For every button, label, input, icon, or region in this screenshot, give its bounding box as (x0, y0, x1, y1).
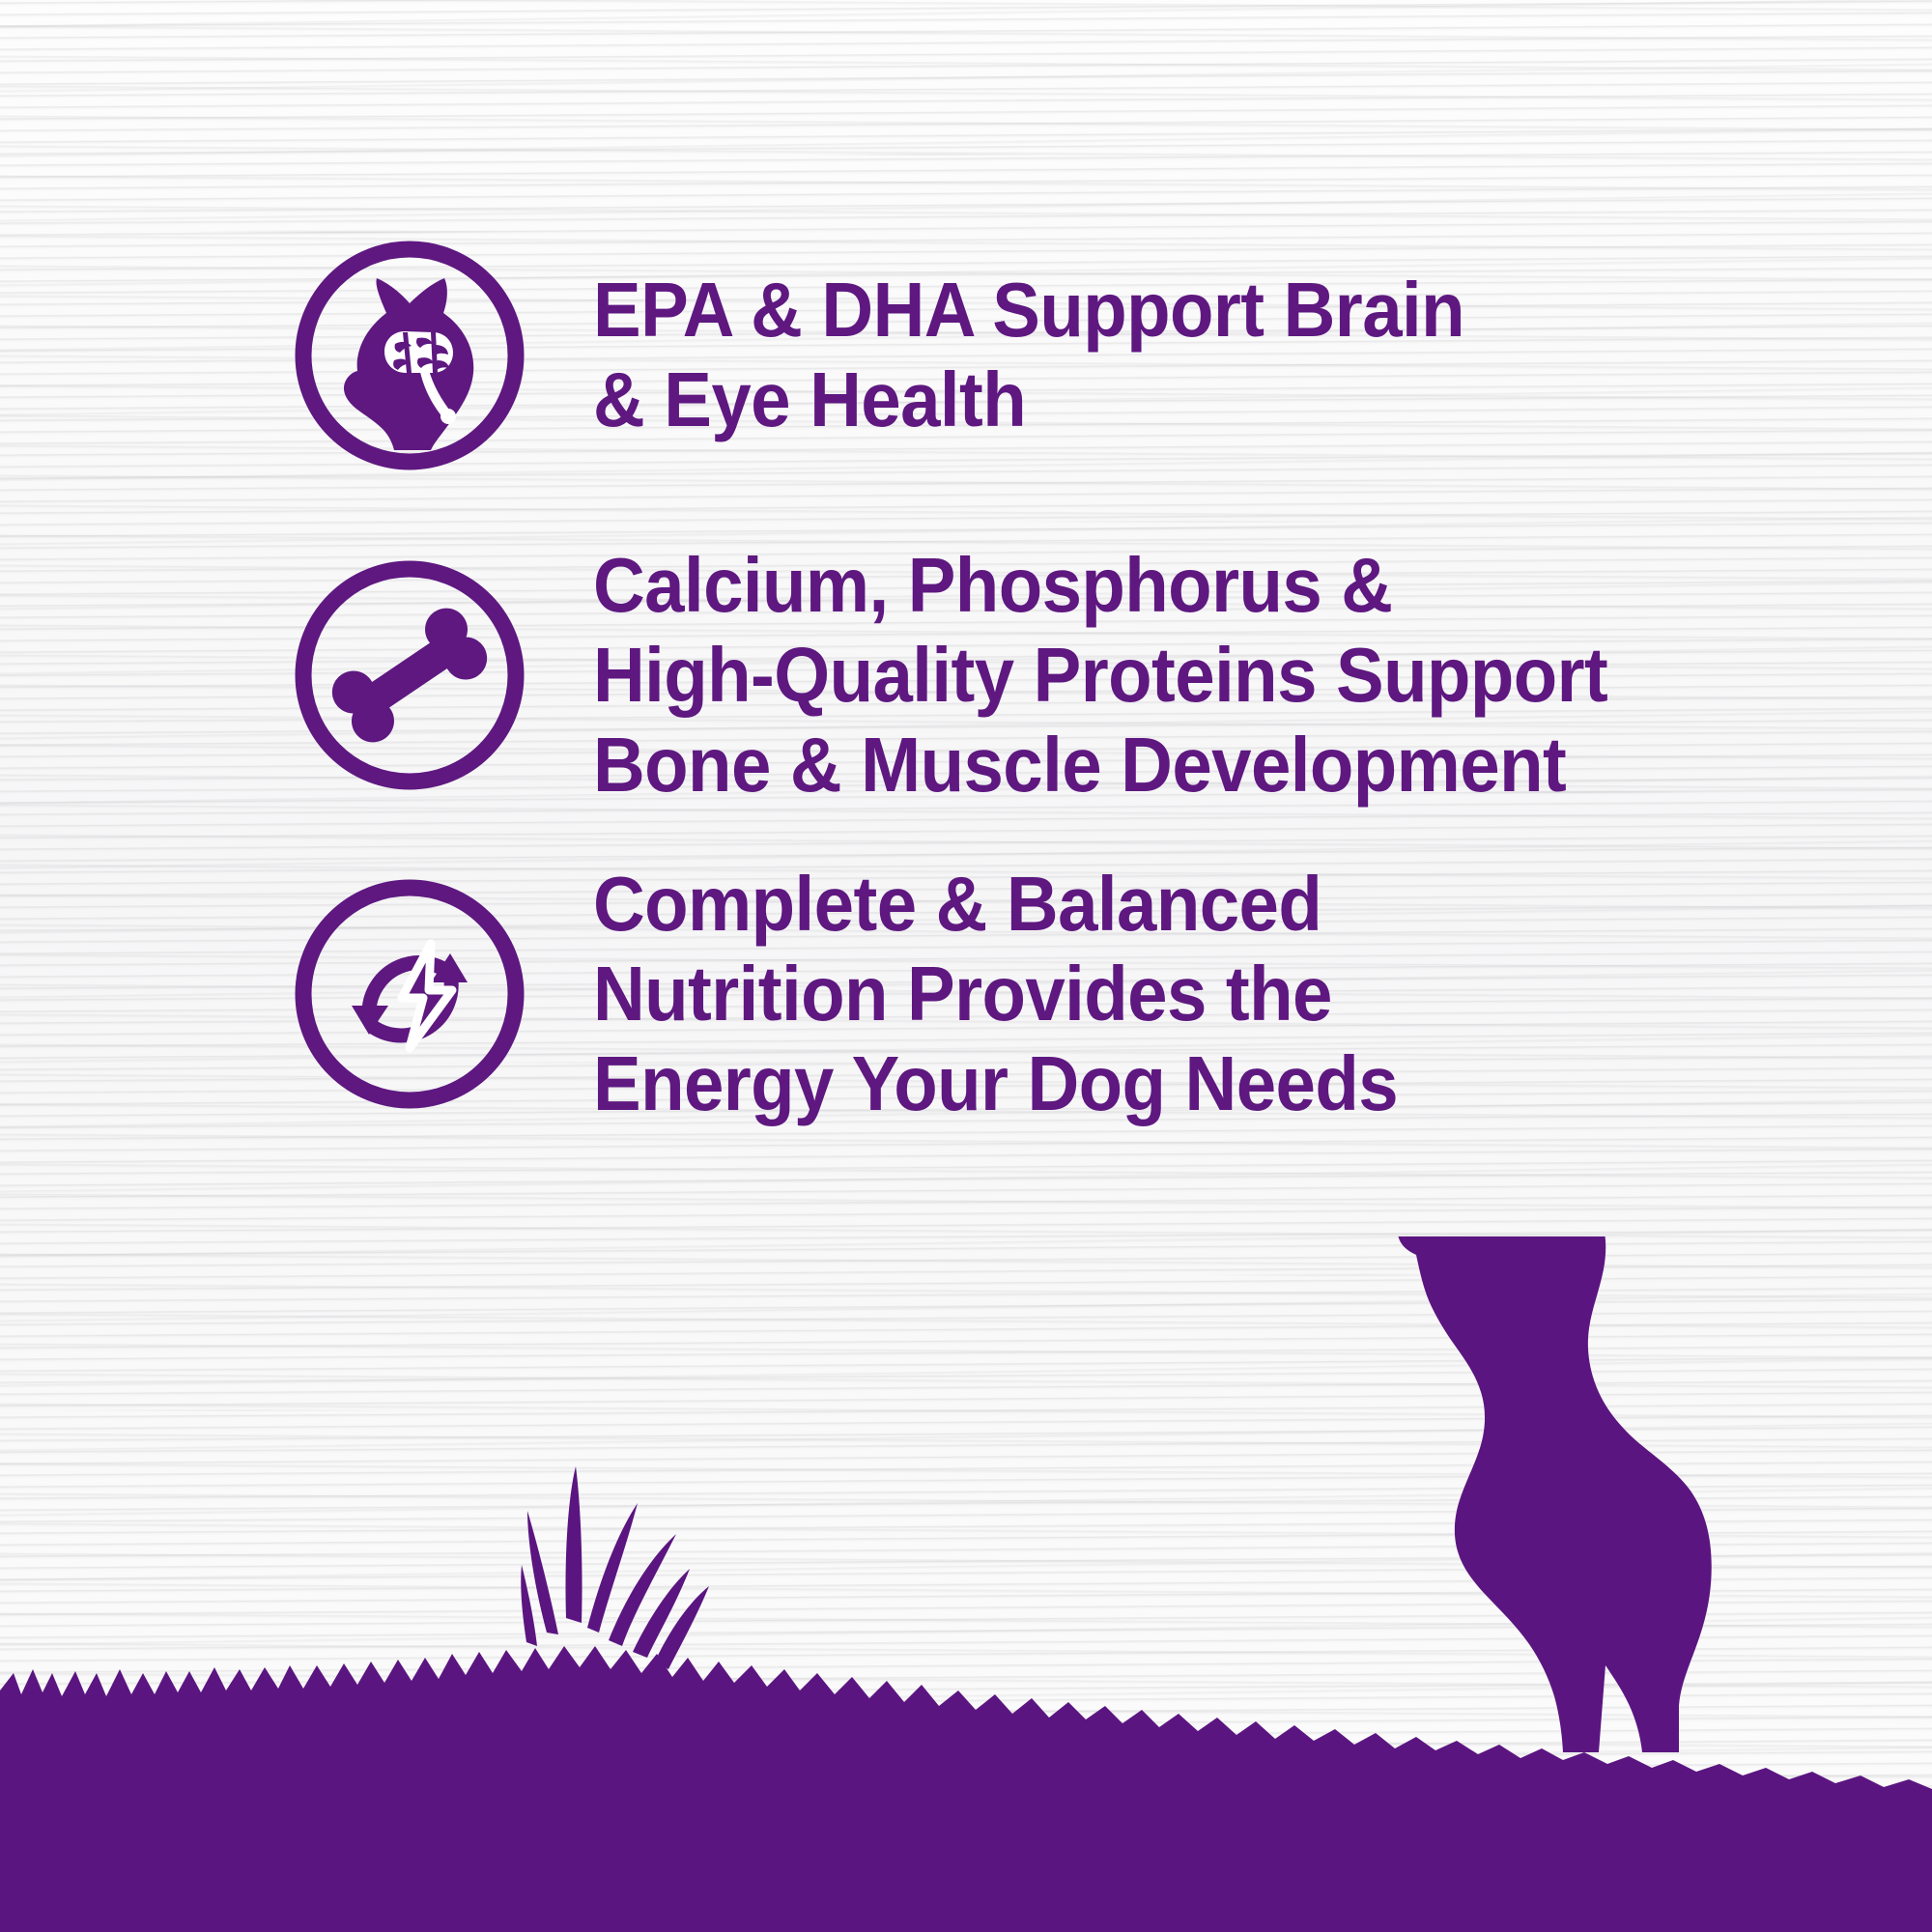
bone-icon (286, 552, 533, 799)
features-list: EPA & DHA Support Brain & Eye Health Cal… (0, 0, 1932, 1401)
energy-cycle-icon (286, 870, 533, 1118)
feature-row: Complete & Balanced Nutrition Provides t… (286, 860, 1459, 1128)
feature-text: Complete & Balanced Nutrition Provides t… (593, 860, 1398, 1128)
feature-text: Calcium, Phosphorus & High-Quality Prote… (593, 541, 1607, 810)
dog-head-brain-icon (286, 232, 533, 479)
feature-text: EPA & DHA Support Brain & Eye Health (593, 266, 1464, 445)
promo-panel: EPA & DHA Support Brain & Eye Health Cal… (0, 0, 1932, 1932)
feature-row: EPA & DHA Support Brain & Eye Health (286, 232, 1530, 479)
feature-row: Calcium, Phosphorus & High-Quality Prote… (286, 541, 1684, 810)
